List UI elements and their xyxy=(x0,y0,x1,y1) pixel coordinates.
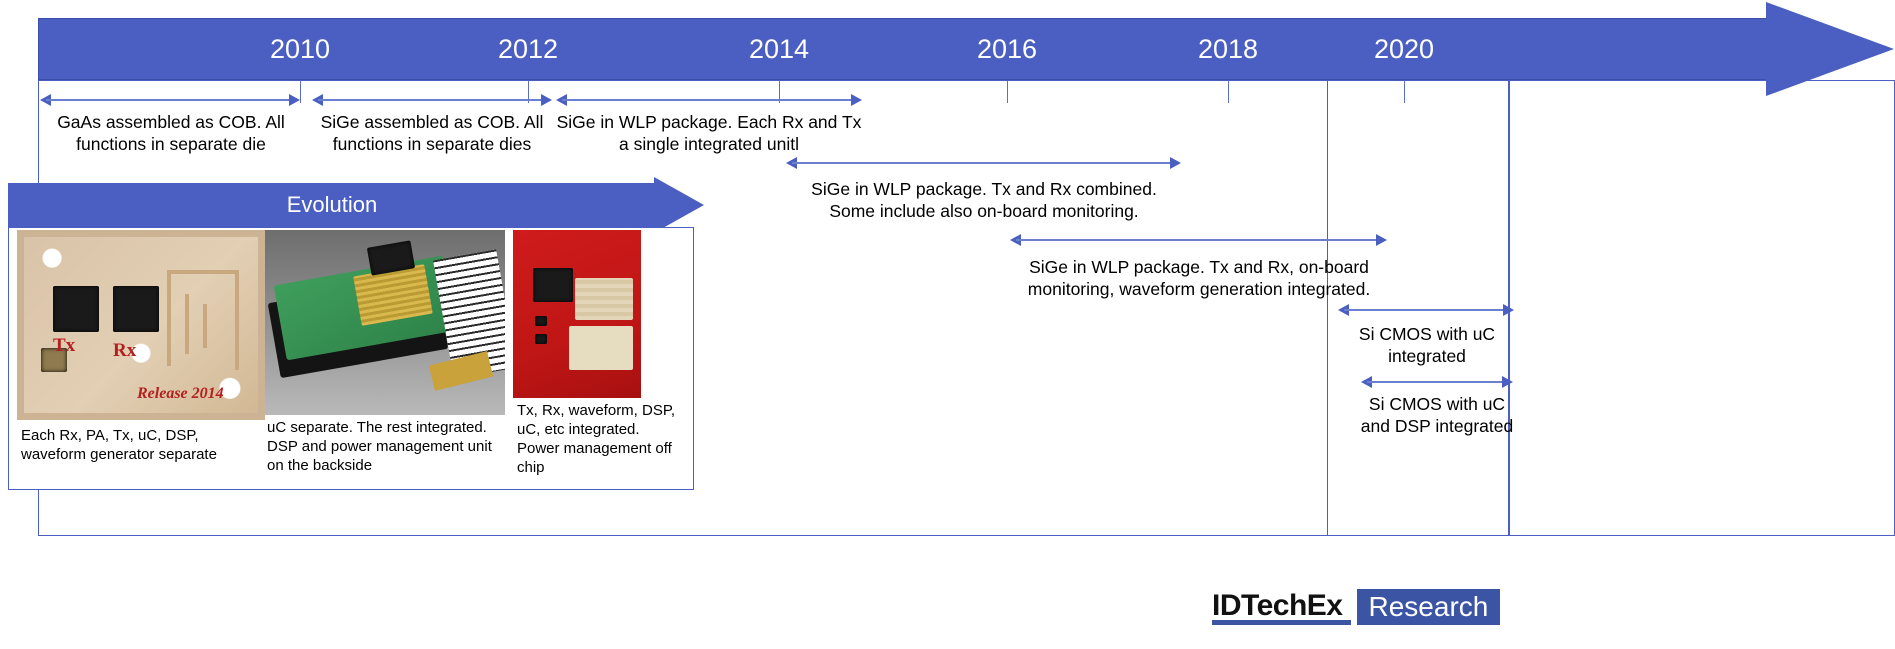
annotation-sige-cob: SiGe assembled as COB. All functions in … xyxy=(307,111,557,155)
range-arrow-gaas-cob xyxy=(40,94,300,106)
range-arrow-sige-cob xyxy=(312,94,552,106)
timeline-arrow-band: 2010 2012 2014 2016 2018 2020 xyxy=(38,18,1895,80)
divider-2020 xyxy=(1327,80,1328,536)
arrow-head-right-icon xyxy=(1376,234,1387,246)
annotation-gaas-cob-line2: functions in separate die xyxy=(40,133,302,155)
year-label-2016: 2016 xyxy=(977,34,1037,64)
arrow-shaft xyxy=(562,99,856,101)
annotation-sige-cob-line2: functions in separate dies xyxy=(307,133,557,155)
arrow-head-right-icon xyxy=(1502,376,1513,388)
photo-red-board-caption: Tx, Rx, waveform, DSP, uC, etc integrate… xyxy=(517,401,695,477)
year-label-2018: 2018 xyxy=(1198,34,1258,64)
annotation-sige-wlp-combined-line2: Some include also on-board monitoring. xyxy=(779,200,1189,222)
range-arrow-sige-wlp-combined xyxy=(786,157,1181,169)
arrow-head-right-icon xyxy=(289,94,300,106)
tick-2020 xyxy=(1404,81,1405,103)
gaas-silk-release: Release 2014 xyxy=(137,385,224,403)
range-arrow-si-cmos-uc-dsp xyxy=(1361,376,1513,388)
frame-top-right-edge xyxy=(1509,80,1895,81)
idtechex-logo: IDTechEx Research xyxy=(1212,589,1500,625)
arrow-head-right-icon xyxy=(541,94,552,106)
red-board-pad-array xyxy=(575,278,633,320)
gaas-trace xyxy=(235,270,239,370)
year-label-2014: 2014 xyxy=(749,34,809,64)
caption-line: Power management off xyxy=(517,439,695,458)
arrow-head-right-icon xyxy=(851,94,862,106)
caption-line: on the backside xyxy=(267,456,505,475)
gaas-trace xyxy=(203,304,207,348)
arrow-shaft xyxy=(1344,309,1508,311)
annotation-sige-wlp-waveform-line2: monitoring, waveform generation integrat… xyxy=(996,278,1402,300)
range-arrow-si-cmos-uc xyxy=(1338,304,1514,316)
arrow-shaft xyxy=(318,99,546,101)
evolution-banner-label: Evolution xyxy=(8,192,656,218)
annotation-si-cmos-uc: Si CMOS with uC integrated xyxy=(1332,323,1522,367)
annotation-si-cmos-uc-dsp-line2: and DSP integrated xyxy=(1340,415,1534,437)
evolution-banner-arrow-head-icon xyxy=(654,177,704,233)
year-label-2012: 2012 xyxy=(498,34,558,64)
gaas-silk-rx: Rx xyxy=(113,340,136,362)
arrow-head-right-icon xyxy=(1170,157,1181,169)
red-board-component xyxy=(535,334,547,344)
gaas-chip-rx xyxy=(113,286,159,332)
annotation-sige-wlp-waveform: SiGe in WLP package. Tx and Rx, on-board… xyxy=(996,256,1402,300)
arrow-shaft xyxy=(792,162,1175,164)
red-board-chip xyxy=(533,268,573,302)
caption-line: DSP and power management unit xyxy=(267,437,505,456)
gaas-trace xyxy=(167,270,239,274)
arrow-shaft xyxy=(46,99,294,101)
gaas-chip-tx xyxy=(53,286,99,332)
annotation-sige-cob-line1: SiGe assembled as COB. All xyxy=(307,111,557,133)
arrow-shaft xyxy=(1016,239,1381,241)
gaas-trace xyxy=(167,270,171,366)
red-board-component xyxy=(535,316,547,326)
red-board-antenna-pad xyxy=(569,326,633,370)
caption-line: uC separate. The rest integrated. xyxy=(267,418,505,437)
annotation-si-cmos-uc-line2: integrated xyxy=(1332,345,1522,367)
photo-panel: Tx Rx Release 2014 Each Rx, PA, Tx, uC, … xyxy=(8,227,694,490)
annotation-si-cmos-uc-dsp: Si CMOS with uC and DSP integrated xyxy=(1340,393,1534,437)
photo-gaas-board: Tx Rx Release 2014 xyxy=(17,230,265,420)
annotation-si-cmos-uc-dsp-line1: Si CMOS with uC xyxy=(1340,393,1534,415)
year-label-2020: 2020 xyxy=(1374,34,1434,64)
caption-line: chip xyxy=(517,458,695,477)
idtechex-wordmark: IDTechEx xyxy=(1212,589,1351,625)
caption-line: waveform generator separate xyxy=(21,445,271,464)
annotation-sige-wlp-combined: SiGe in WLP package. Tx and Rx combined.… xyxy=(779,178,1189,222)
evolution-banner: Evolution xyxy=(8,183,702,227)
annotation-gaas-cob: GaAs assembled as COB. All functions in … xyxy=(40,111,302,155)
annotation-sige-wlp-single: SiGe in WLP package. Each Rx and Tx a si… xyxy=(548,111,870,155)
annotation-si-cmos-uc-line1: Si CMOS with uC xyxy=(1332,323,1522,345)
arrow-shaft xyxy=(1367,381,1507,383)
timeline-arrow-head-icon xyxy=(1766,2,1894,96)
range-arrow-sige-wlp-waveform xyxy=(1010,234,1387,246)
range-arrow-sige-wlp-single xyxy=(556,94,862,106)
gaas-silk-tx: Tx xyxy=(53,335,75,357)
annotation-sige-wlp-single-line2: a single integrated unitl xyxy=(548,133,870,155)
tick-2010 xyxy=(300,81,301,103)
tick-2018 xyxy=(1228,81,1229,103)
gaas-trace xyxy=(185,294,189,354)
frame-bottom-right-edge xyxy=(1509,535,1895,536)
caption-line: uC, etc integrated. xyxy=(517,420,695,439)
annotation-sige-wlp-single-line1: SiGe in WLP package. Each Rx and Tx xyxy=(548,111,870,133)
tick-2016 xyxy=(1007,81,1008,103)
photo-red-board xyxy=(513,230,641,398)
photo-sige-module-caption: uC separate. The rest integrated. DSP an… xyxy=(267,418,505,475)
annotation-gaas-cob-line1: GaAs assembled as COB. All xyxy=(40,111,302,133)
annotation-sige-wlp-waveform-line1: SiGe in WLP package. Tx and Rx, on-board xyxy=(996,256,1402,278)
arrow-head-right-icon xyxy=(1503,304,1514,316)
caption-line: Tx, Rx, waveform, DSP, xyxy=(517,401,695,420)
idtechex-research-tag: Research xyxy=(1357,589,1501,625)
annotation-sige-wlp-combined-line1: SiGe in WLP package. Tx and Rx combined. xyxy=(779,178,1189,200)
caption-line: Each Rx, PA, Tx, uC, DSP, xyxy=(21,426,271,445)
photo-sige-module xyxy=(265,230,505,415)
timeline-infographic: 2010 2012 2014 2016 2018 2020 GaAs assem… xyxy=(0,0,1895,649)
photo-gaas-board-caption: Each Rx, PA, Tx, uC, DSP, waveform gener… xyxy=(21,426,271,464)
year-label-2010: 2010 xyxy=(270,34,330,64)
